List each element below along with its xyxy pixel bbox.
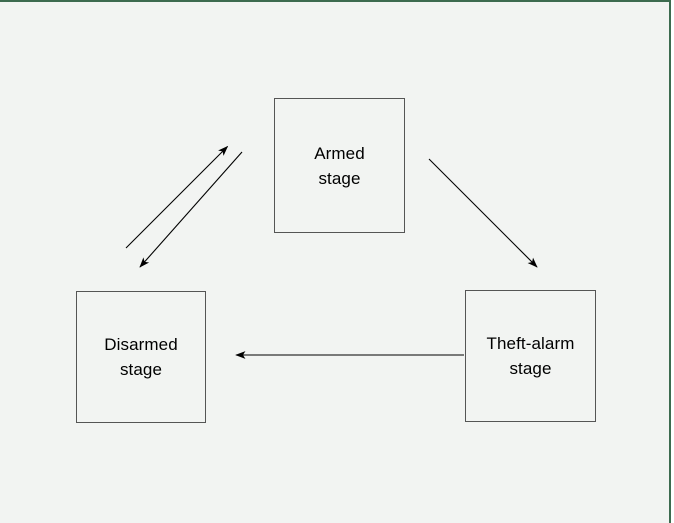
arrow-armed-to-theft-alarm bbox=[429, 159, 537, 267]
frame-top-border bbox=[0, 0, 674, 2]
state-label-armed: Armed stage bbox=[314, 141, 365, 191]
state-box-armed[interactable]: Armed stage bbox=[274, 98, 405, 233]
arrow-armed-to-disarmed bbox=[140, 152, 242, 267]
state-box-disarmed[interactable]: Disarmed stage bbox=[76, 291, 206, 423]
state-label-disarmed: Disarmed stage bbox=[104, 332, 178, 382]
diagram-canvas: Armed stage Disarmed stage Theft-alarm s… bbox=[0, 0, 674, 523]
state-label-theft-alarm: Theft-alarm stage bbox=[486, 331, 574, 381]
arrow-disarmed-to-armed bbox=[126, 147, 228, 249]
arrow-layer bbox=[0, 0, 674, 523]
state-box-theft-alarm[interactable]: Theft-alarm stage bbox=[465, 290, 596, 422]
